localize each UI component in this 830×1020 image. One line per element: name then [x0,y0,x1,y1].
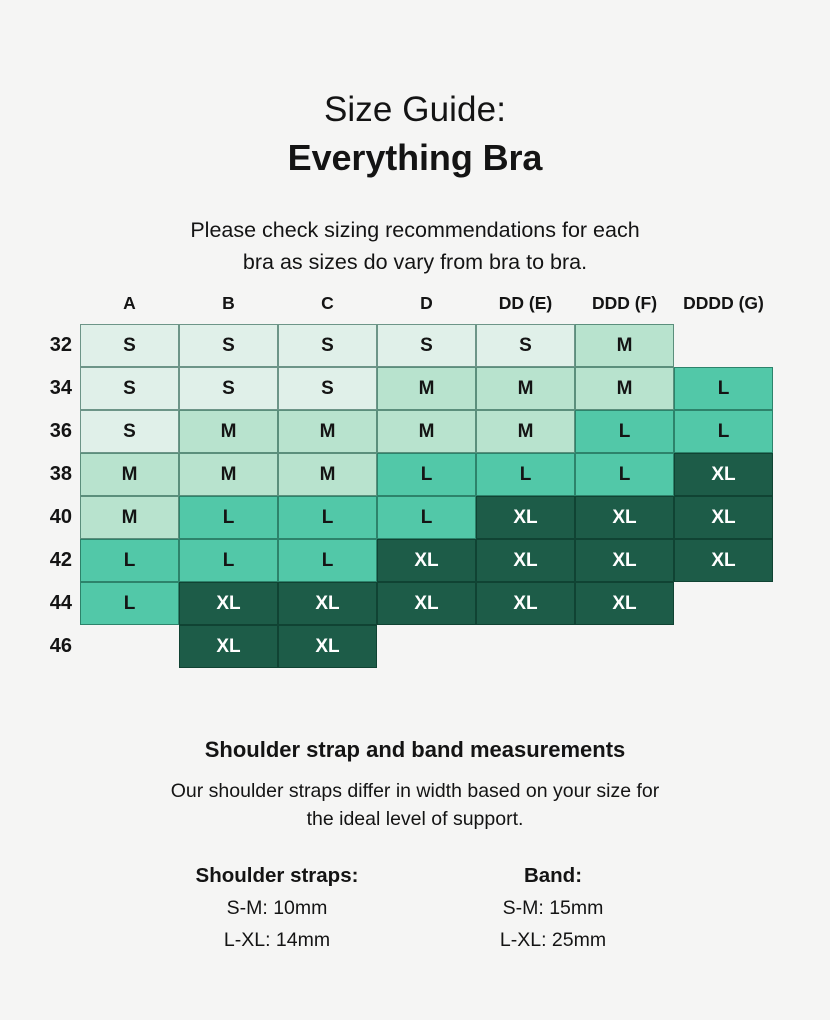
row-header-34: 34 [24,367,72,410]
column-header-c: C [278,292,377,314]
page-title-primary: Size Guide: [0,88,830,132]
size-cell: XL [476,496,575,539]
size-cell: S [179,367,278,410]
intro-line-2: bra as sizes do vary from bra to bra. [0,246,830,278]
size-cell: L [377,453,476,496]
size-cell: M [377,410,476,453]
page-header: Size Guide: Everything Bra Please check … [0,0,830,278]
column-header-dd-e: DD (E) [476,292,575,314]
size-cell: M [179,410,278,453]
size-cell: XL [476,582,575,625]
column-header-b: B [179,292,278,314]
size-cell: L [278,539,377,582]
page-title-secondary: Everything Bra [0,134,830,182]
measurement-item: L-XL: 25mm [463,925,643,955]
size-cell: XL [674,539,773,582]
size-cell: XL [674,453,773,496]
size-guide-page: Size Guide: Everything Bra Please check … [0,0,830,1020]
size-cell: S [377,324,476,367]
size-cell: L [476,453,575,496]
size-cell: XL [575,582,674,625]
row-header-46: 46 [24,625,72,668]
measurement-item: S-M: 10mm [187,893,367,923]
measurements-description: Our shoulder straps differ in width base… [0,777,830,833]
size-cell: L [179,539,278,582]
column-header-dddd-g: DDDD (G) [674,292,773,314]
measurement-heading: Band: [463,861,643,891]
size-cell: L [179,496,278,539]
size-cell: XL [179,625,278,668]
measurement-item: S-M: 15mm [463,893,643,923]
size-cell: S [80,410,179,453]
size-cell: M [179,453,278,496]
measurement-column: Shoulder straps:S-M: 10mmL-XL: 14mm [187,861,367,955]
row-header-42: 42 [24,539,72,582]
size-cell: M [278,410,377,453]
measurements-description-line-1: Our shoulder straps differ in width base… [0,777,830,805]
size-grid: 32SSSSSM34SSSMMML36SMMMMLL38MMMLLLXL40ML… [0,324,830,664]
measurements-title: Shoulder strap and band measurements [0,735,830,765]
measurements-description-line-2: the ideal level of support. [0,805,830,833]
size-cell: L [278,496,377,539]
size-cell: XL [575,496,674,539]
measurements-columns: Shoulder straps:S-M: 10mmL-XL: 14mmBand:… [0,861,830,955]
size-cell: L [674,367,773,410]
intro-text: Please check sizing recommendations for … [0,214,830,278]
row-header-40: 40 [24,496,72,539]
intro-line-1: Please check sizing recommendations for … [0,214,830,246]
column-header-d: D [377,292,476,314]
size-cell: S [278,324,377,367]
column-header-a: A [80,292,179,314]
size-cell: XL [674,496,773,539]
size-cell: S [80,324,179,367]
size-cell: M [476,367,575,410]
size-cell: L [80,582,179,625]
measurements-section: Shoulder strap and band measurements Our… [0,735,830,955]
measurement-column: Band:S-M: 15mmL-XL: 25mm [463,861,643,955]
size-cell: M [476,410,575,453]
size-cell: M [377,367,476,410]
size-cell: M [80,453,179,496]
size-cell: L [377,496,476,539]
size-cell: XL [179,582,278,625]
row-header-36: 36 [24,410,72,453]
size-chart: ABCDDD (E)DDD (F)DDDD (G) 32SSSSSM34SSSM… [0,292,830,664]
measurement-heading: Shoulder straps: [187,861,367,891]
size-cell: L [80,539,179,582]
size-cell: M [80,496,179,539]
size-cell: XL [476,539,575,582]
column-header-row: ABCDDD (E)DDD (F)DDDD (G) [80,292,780,324]
size-cell: S [179,324,278,367]
size-cell: M [575,324,674,367]
size-cell: S [80,367,179,410]
size-cell: M [575,367,674,410]
size-cell: L [575,410,674,453]
column-header-ddd-f: DDD (F) [575,292,674,314]
row-header-32: 32 [24,324,72,367]
measurement-item: L-XL: 14mm [187,925,367,955]
size-cell: XL [278,625,377,668]
size-cell: XL [377,539,476,582]
size-cell: XL [377,582,476,625]
size-cell: S [476,324,575,367]
size-cell: XL [278,582,377,625]
size-cell: L [575,453,674,496]
size-cell: M [278,453,377,496]
size-cell: L [674,410,773,453]
row-header-38: 38 [24,453,72,496]
size-cell: XL [575,539,674,582]
row-header-44: 44 [24,582,72,625]
size-cell: S [278,367,377,410]
